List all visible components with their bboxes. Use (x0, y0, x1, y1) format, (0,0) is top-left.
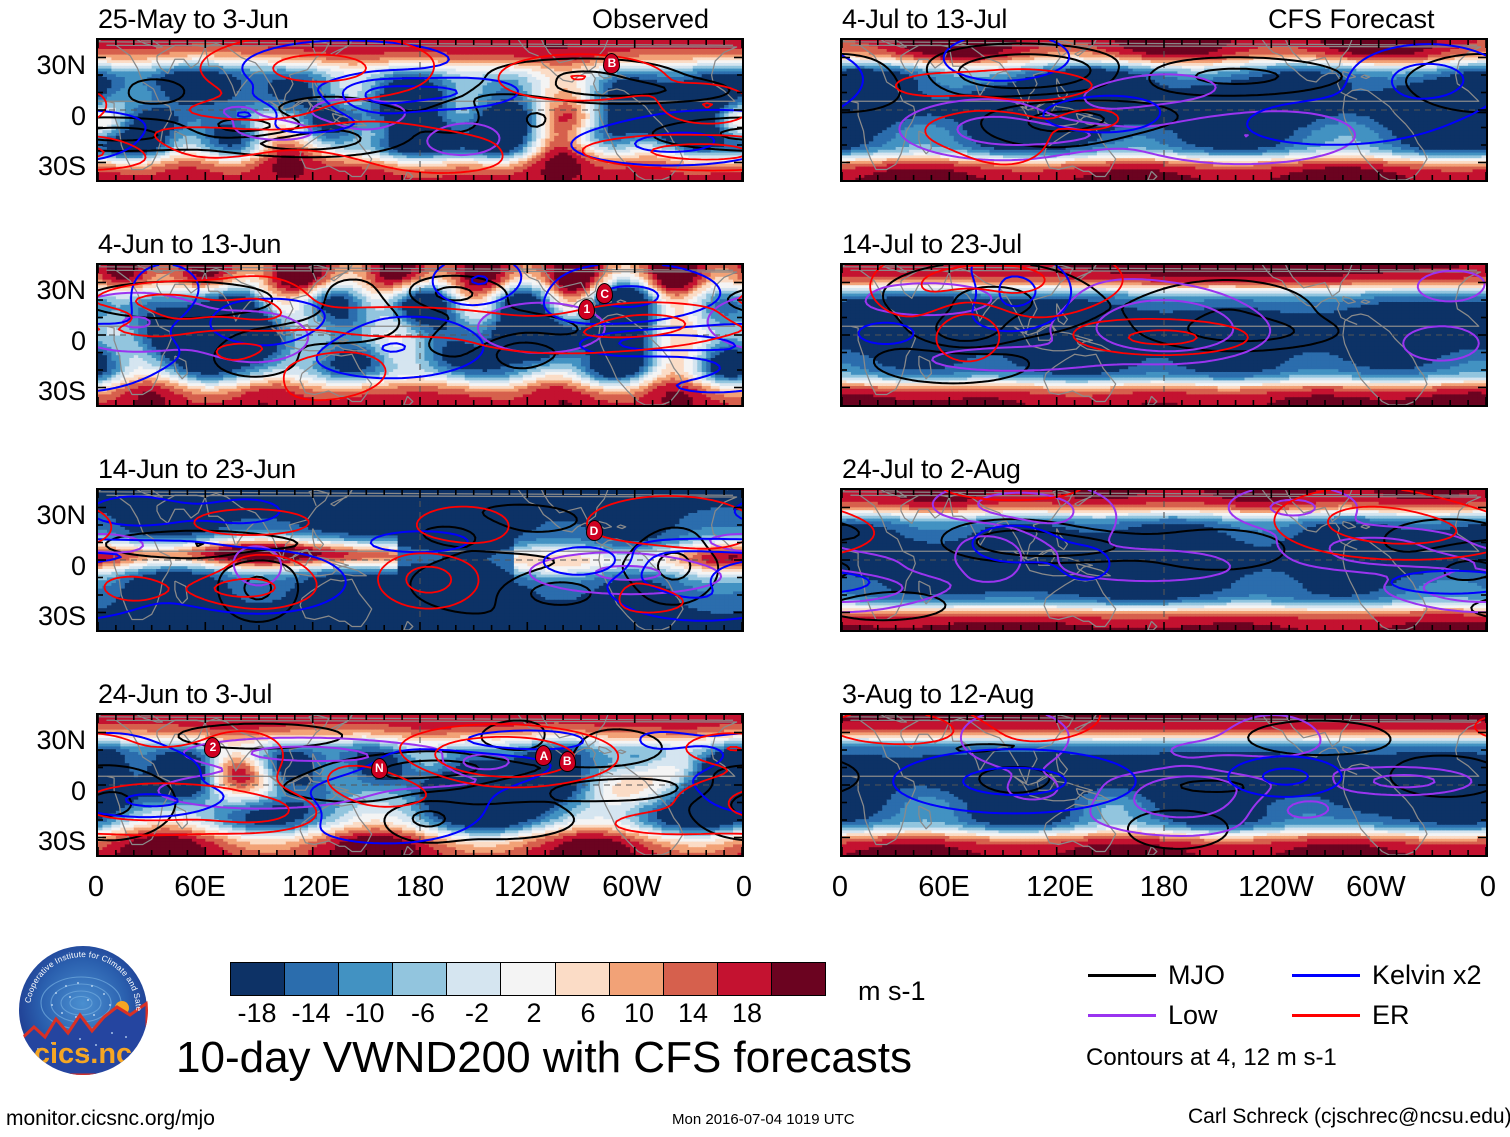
panel-title-obs-3: 14-Jun to 23-Jun (98, 456, 296, 483)
storm-marker-label: 1 (578, 299, 595, 320)
map-field-fcst-3 (842, 490, 1486, 630)
map-panel-obs-1[interactable]: B (96, 38, 744, 182)
x-tick-0-right: 0 (810, 873, 870, 902)
map-field-fcst-1 (842, 40, 1486, 180)
panel-title-obs-2: 4-Jun to 13-Jun (98, 231, 281, 258)
map-panel-fcst-4[interactable] (840, 713, 1488, 857)
panel-title-obs-4: 24-Jun to 3-Jul (98, 681, 272, 708)
colorbar-tick-2: -10 (335, 1000, 395, 1027)
map-panel-fcst-1[interactable] (840, 38, 1488, 182)
storm-marker-label: D (586, 520, 603, 541)
x-tick-60e-right: 60E (902, 873, 986, 902)
map-panel-obs-3[interactable]: D (96, 488, 744, 632)
colorbar-tick-1: -14 (281, 1000, 341, 1027)
colorbar-bin-0 (231, 963, 285, 995)
storm-marker-b[interactable]: B (559, 751, 576, 772)
legend-swatch-er (1292, 1014, 1360, 1017)
colorbar-bin-5 (501, 963, 555, 995)
y-tick-0-row4: 0 (6, 778, 86, 805)
storm-marker-label: C (596, 283, 613, 304)
colorbar-bin-3 (393, 963, 447, 995)
panel-title-fcst-2: 14-Jul to 23-Jul (842, 231, 1022, 258)
storm-marker-b[interactable]: B (603, 53, 620, 74)
y-tick-30n-row2: 30N (6, 277, 86, 304)
y-tick-30s-row1: 30S (6, 153, 86, 180)
panel-title-fcst-1: 4-Jul to 13-Jul (842, 6, 1007, 33)
storm-marker-label: B (603, 53, 620, 74)
colorbar-bin-4 (447, 963, 501, 995)
y-tick-30s-row2: 30S (6, 378, 86, 405)
map-field-obs-4 (98, 715, 742, 855)
storm-marker-1[interactable]: 1 (578, 299, 595, 320)
colorbar-tick-0: -18 (227, 1000, 287, 1027)
panel-title-obs-1: 25-May to 3-Jun (98, 6, 289, 33)
storm-marker-label: 2 (204, 737, 221, 758)
x-tick-60w-right: 60W (1334, 873, 1418, 902)
colorbar-bin-8 (664, 963, 718, 995)
storm-marker-label: N (371, 758, 388, 779)
footer-timestamp: Mon 2016-07-04 1019 UTC (672, 1112, 855, 1127)
map-field-fcst-2 (842, 265, 1486, 405)
colorbar-bin-10 (772, 963, 825, 995)
x-tick-60e-left: 60E (158, 873, 242, 902)
map-panel-fcst-3[interactable] (840, 488, 1488, 632)
map-panel-obs-2[interactable]: C1 (96, 263, 744, 407)
legend-swatch-mjo (1088, 974, 1156, 977)
colorbar-tick-7: 10 (609, 1000, 669, 1027)
x-tick-180-left: 180 (382, 873, 458, 902)
colorbar-tick-9: 18 (717, 1000, 777, 1027)
page-title: 10-day VWND200 with CFS forecasts (176, 1036, 912, 1080)
colorbar-bin-6 (556, 963, 610, 995)
x-tick-0-right-left: 0 (714, 873, 774, 902)
legend-label-er: ER (1372, 1002, 1410, 1029)
map-panel-obs-4[interactable]: 2NAB (96, 713, 744, 857)
colorbar-tick-8: 14 (663, 1000, 723, 1027)
y-tick-30n-row1: 30N (6, 52, 86, 79)
storm-marker-a[interactable]: A (535, 745, 552, 766)
x-tick-120e-left: 120E (264, 873, 368, 902)
storm-marker-n[interactable]: N (371, 758, 388, 779)
colorbar-bin-1 (285, 963, 339, 995)
x-tick-120w-right: 120W (1224, 873, 1328, 902)
panel-title-fcst-3: 24-Jul to 2-Aug (842, 456, 1021, 483)
colorbar-tick-5: 2 (504, 1000, 564, 1027)
colorbar-units-label: m s-1 (858, 978, 926, 1005)
storm-marker-c[interactable]: C (596, 283, 613, 304)
legend-label-mjo: MJO (1168, 962, 1225, 989)
colorbar-tick-4: -2 (447, 1000, 507, 1027)
map-field-obs-2 (98, 265, 742, 405)
storm-marker-2[interactable]: 2 (204, 737, 221, 758)
colorbar (230, 962, 826, 996)
x-tick-0-far-right: 0 (1458, 873, 1510, 902)
x-tick-120w-left: 120W (480, 873, 584, 902)
x-tick-0-left: 0 (66, 873, 126, 902)
cics-nc-logo[interactable]: Cooperative Institute for Climate and Sa… (18, 945, 148, 1075)
storm-marker-d[interactable]: D (586, 520, 603, 541)
map-panel-fcst-2[interactable] (840, 263, 1488, 407)
y-tick-0-row3: 0 (6, 553, 86, 580)
logo-graphic: Cooperative Institute for Climate and Sa… (18, 945, 148, 1075)
y-tick-30n-row3: 30N (6, 502, 86, 529)
colorbar-bin-9 (718, 963, 772, 995)
y-tick-0-row1: 0 (6, 103, 86, 130)
footer-site-url[interactable]: monitor.cicsnc.org/mjo (6, 1108, 215, 1129)
colorbar-bin-2 (339, 963, 393, 995)
storm-marker-label: A (535, 745, 552, 766)
y-tick-0-row2: 0 (6, 328, 86, 355)
y-tick-30s-row4: 30S (6, 828, 86, 855)
colorbar-tick-3: -6 (393, 1000, 453, 1027)
map-field-fcst-4 (842, 715, 1486, 855)
panel-title-fcst-4: 3-Aug to 12-Aug (842, 681, 1034, 708)
observed-label: Observed (592, 6, 709, 33)
footer-author: Carl Schreck (cjschrec@ncsu.edu) (1188, 1106, 1510, 1127)
colorbar-bin-7 (610, 963, 664, 995)
legend-swatch-low (1088, 1014, 1156, 1017)
forecast-label: CFS Forecast (1268, 6, 1435, 33)
map-field-obs-3 (98, 490, 742, 630)
legend-contour-note: Contours at 4, 12 m s-1 (1086, 1046, 1337, 1070)
legend-label-low: Low (1168, 1002, 1218, 1029)
storm-marker-label: B (559, 751, 576, 772)
y-tick-30s-row3: 30S (6, 603, 86, 630)
legend-swatch-kelvin (1292, 974, 1360, 977)
map-field-obs-1 (98, 40, 742, 180)
logo-wordmark: cics.nc (34, 1038, 132, 1070)
x-tick-180-right: 180 (1126, 873, 1202, 902)
x-tick-120e-right: 120E (1008, 873, 1112, 902)
legend-label-kelvin: Kelvin x2 (1372, 962, 1482, 989)
y-tick-30n-row4: 30N (6, 727, 86, 754)
x-tick-60w-left: 60W (590, 873, 674, 902)
